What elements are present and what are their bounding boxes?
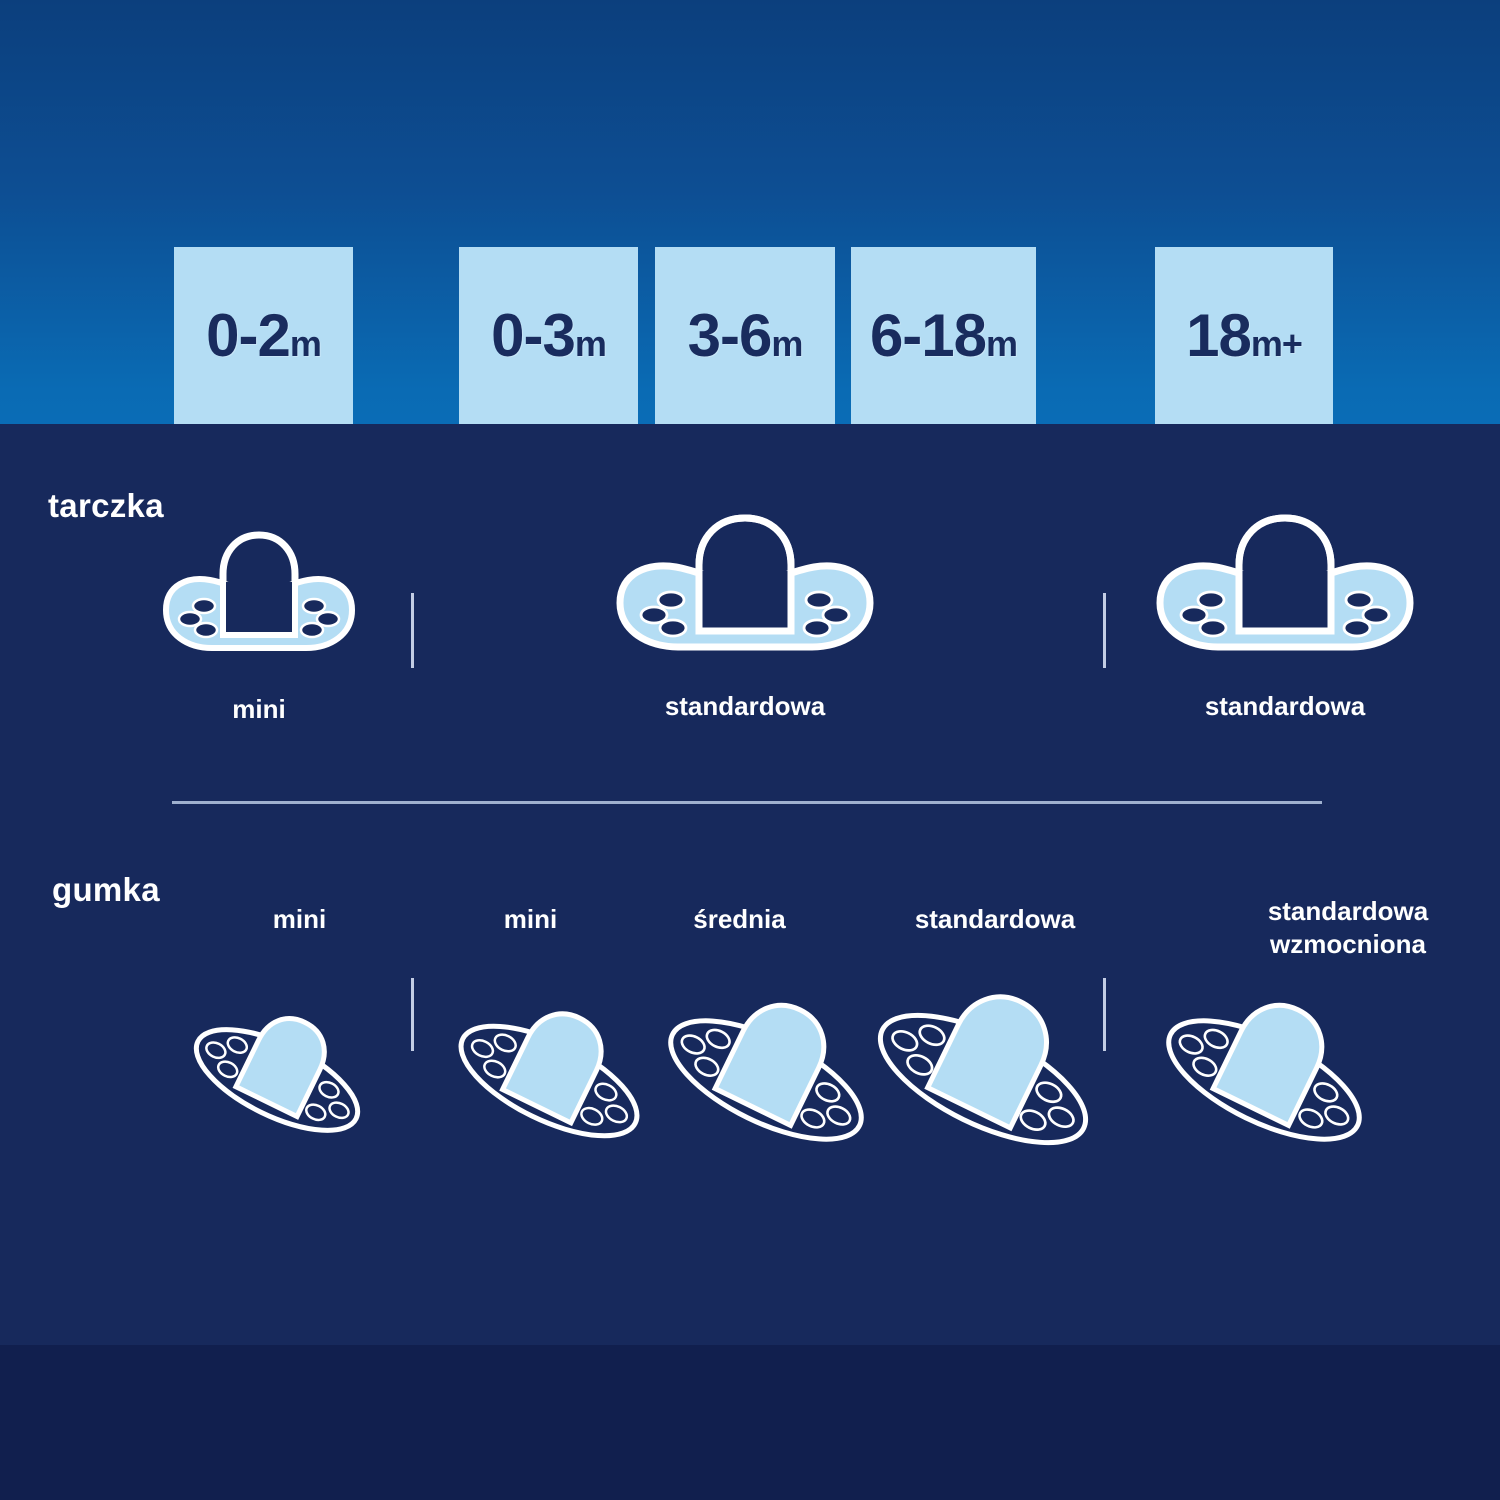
age-badge-number-3: 6-18 [870,302,986,369]
teat-icon-standardowa-wzmocniona [1148,988,1380,1173]
teat-divider-1 [411,978,414,1051]
shield-icon-standard-2 [1140,505,1430,670]
section-label-gumka: gumka [52,871,160,909]
footer-navy-band [0,1345,1500,1500]
age-badge-0: 0-2m [174,247,353,424]
shield-divider-2 [1103,593,1106,668]
shield-icon-mini [148,520,370,670]
age-badge-label-4: 18m+ [1186,301,1302,370]
teat-icon-srednia [650,988,882,1173]
age-badge-unit-4: m+ [1251,323,1302,364]
age-badge-label-2: 3-6m [688,301,803,370]
shield-divider-1 [411,593,414,668]
age-badge-number-2: 3-6 [688,302,772,369]
age-badge-label-1: 0-3m [491,301,606,370]
age-badge-number-1: 0-3 [491,302,575,369]
age-badge-4: 18m+ [1155,247,1333,424]
age-badge-1: 0-3m [459,247,638,424]
shield-icon-standard [600,505,890,670]
age-badge-3: 6-18m [851,247,1036,424]
age-badge-label-3: 6-18m [870,301,1017,370]
shield-caption-mini: mini [178,693,340,726]
age-badge-unit-0: m [290,323,321,364]
age-badge-unit-3: m [986,323,1017,364]
teat-icon-mini-2 [442,995,657,1167]
age-badge-number-0: 0-2 [206,302,290,369]
teat-caption-0: mini [212,903,387,936]
pacifier-size-infographic: 0-2m 0-3m 3-6m 6-18m 18m+ tarczka [0,0,1500,1500]
section-label-tarczka: tarczka [48,487,164,525]
age-badge-2: 3-6m [655,247,835,424]
teat-divider-2 [1103,978,1106,1051]
teat-caption-1: mini [443,903,618,936]
teat-icon-standardowa [858,980,1108,1178]
teat-caption-4: standardowa wzmocniona [1248,895,1448,960]
shield-caption-standard-1: standardowa [655,690,835,723]
teat-icon-mini-1 [180,1000,375,1160]
teat-caption-3: standardowa [900,903,1090,936]
section-separator [172,801,1322,804]
age-badge-number-4: 18 [1186,302,1251,369]
age-badge-label-0: 0-2m [206,301,321,370]
age-badge-unit-2: m [771,323,802,364]
teat-caption-2: średnia [652,903,827,936]
age-badge-unit-1: m [575,323,606,364]
shield-caption-standard-2: standardowa [1195,690,1375,723]
